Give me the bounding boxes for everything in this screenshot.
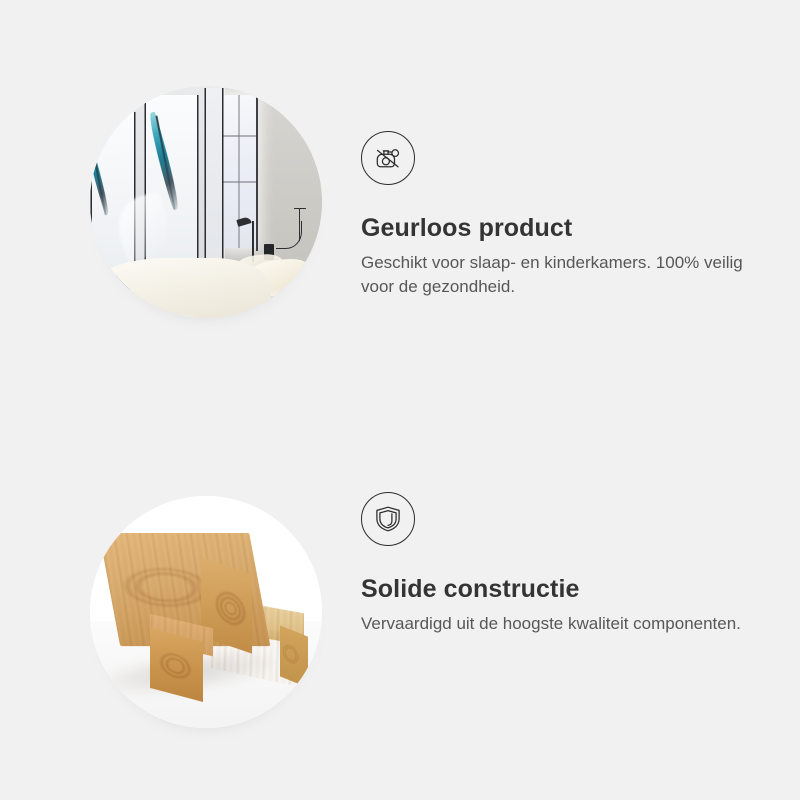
feature-text-solide: Solide constructie Vervaardigd uit de ho… xyxy=(361,492,761,636)
wall-lamp-top xyxy=(294,208,306,210)
feature-block-geurloos: Geurloos product Geschikt voor slaap- en… xyxy=(0,0,800,400)
duvet-fold xyxy=(103,313,195,318)
shield-icon xyxy=(361,492,415,546)
feature-title: Geurloos product xyxy=(361,213,761,243)
feature-title: Solide constructie xyxy=(361,574,761,604)
feature-description: Vervaardigd uit de hoogste kwaliteit com… xyxy=(361,612,749,636)
feather-left xyxy=(90,137,112,215)
beam-right-end-grain xyxy=(280,625,308,687)
duvet xyxy=(90,258,271,318)
wooden-beams-scene xyxy=(90,496,322,728)
art-panel-right xyxy=(206,88,222,264)
wood-end-rings xyxy=(280,625,308,687)
window-frame-right xyxy=(256,93,258,251)
feature-image-solide xyxy=(90,496,322,728)
circular-image-mask xyxy=(90,86,322,318)
no-fragrance-icon xyxy=(361,131,415,185)
product-feature-page: Geurloos product Geschikt voor slaap- en… xyxy=(0,0,800,800)
feature-block-solide: Solide constructie Vervaardigd uit de ho… xyxy=(0,400,800,800)
circular-image-mask xyxy=(90,496,322,728)
feature-text-geurloos: Geurloos product Geschikt voor slaap- en… xyxy=(361,131,761,299)
bedroom-scene xyxy=(90,86,322,318)
feature-description: Geschikt voor slaap- en kinderkamers. 10… xyxy=(361,251,749,299)
feature-image-geurloos xyxy=(90,86,322,318)
